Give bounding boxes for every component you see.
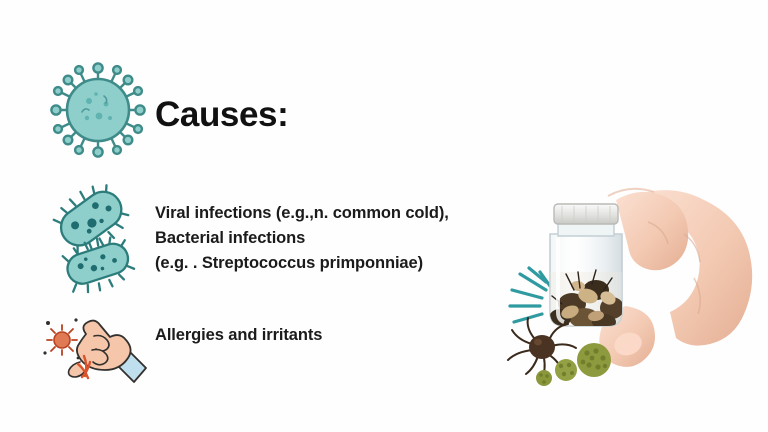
glass-jar [548,204,626,330]
bullet-line: Allergies and irritants [155,323,322,348]
bacteria-icon [44,182,150,286]
page-title: Causes: [155,97,288,132]
hand-holding-allergen-jar-photo [488,186,768,391]
itchy-hand-icon [42,306,152,386]
slide-canvas: Causes: Viral infections (e.g.,n. common… [0,0,768,432]
bullet-line: Bacterial infections [155,226,449,251]
teal-burst-lines [510,268,550,322]
bullet-line: (e.g. . Streptococcus primponniae) [155,251,449,276]
bullet-allergies-text: Allergies and irritants [155,323,322,348]
bullet-infections-text: Viral infections (e.g.,n. common cold), … [155,201,449,276]
virus-icon [44,56,152,164]
bullet-line: Viral infections (e.g.,n. common cold), [155,201,449,226]
